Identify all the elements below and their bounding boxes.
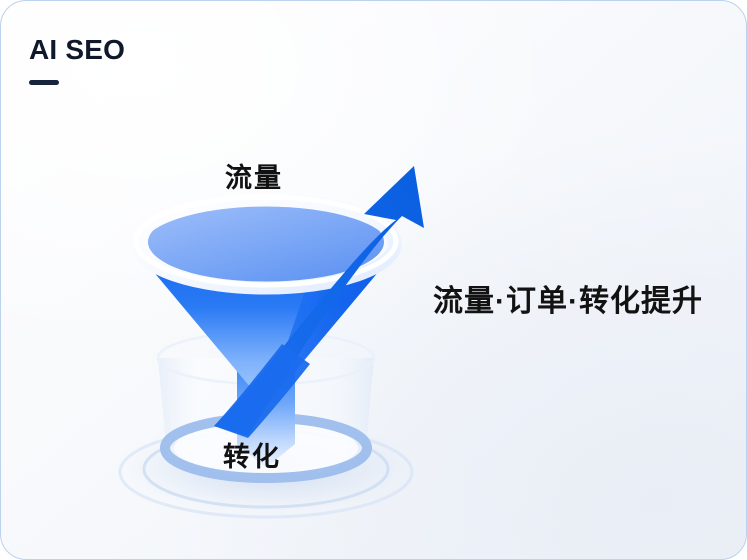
page-title-block: AI SEO — [29, 35, 329, 85]
title-underline-accent — [29, 80, 59, 85]
slide-canvas: AI SEO — [0, 0, 747, 560]
funnel-label-traffic: 流量 — [225, 156, 283, 195]
funnel-label-conversion: 转化 — [223, 435, 281, 474]
tagline-text: 流量·订单·转化提升 — [433, 276, 703, 320]
page-title: AI SEO — [29, 35, 329, 64]
